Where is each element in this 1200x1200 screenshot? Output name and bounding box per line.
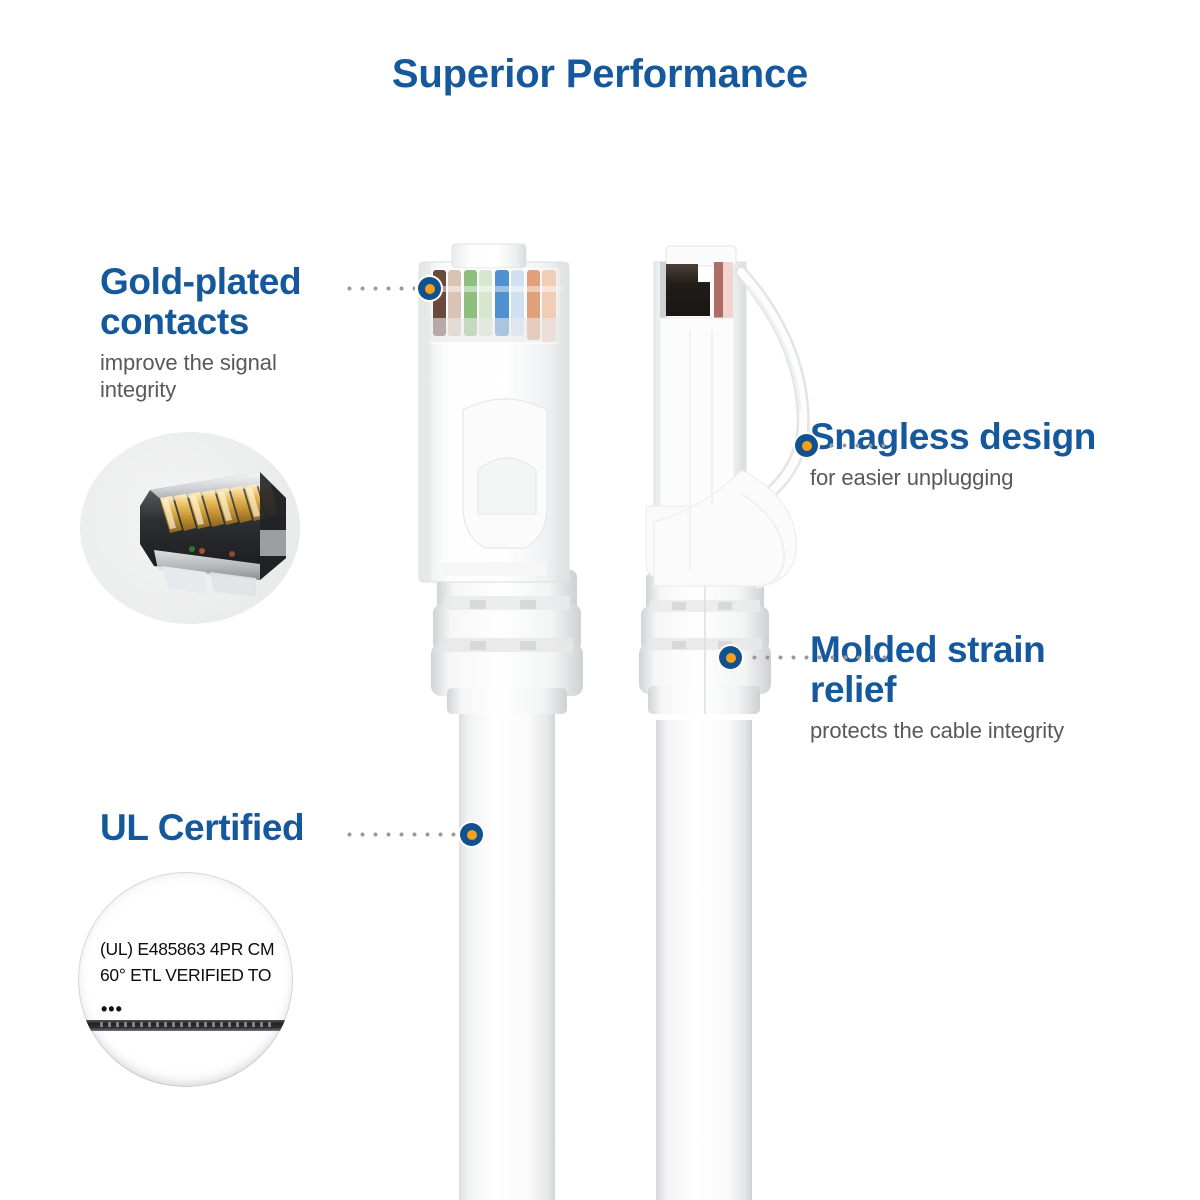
ul-label-ellipsis: ••• <box>101 999 123 1020</box>
rj45-gold-contacts-illustration <box>110 454 300 604</box>
molded-strain-relief-left <box>431 570 583 714</box>
callout-subtext-gold: improve the signal integrity <box>100 349 350 404</box>
marker-dot-ul-certified[interactable] <box>460 823 483 846</box>
ul-label-print-stripe <box>84 1020 287 1031</box>
callout-gold-plated-contacts: Gold-plated contacts improve the signal … <box>100 262 350 404</box>
connector-side-view <box>639 246 803 1200</box>
page-title: Superior Performance <box>0 52 1200 97</box>
marker-dot-molded-strain-relief[interactable] <box>719 646 742 669</box>
ul-label-line-1: (UL) E485863 4PR CM <box>100 938 278 961</box>
marker-dot-snagless-design[interactable] <box>795 434 818 457</box>
callout-subtext-molded: protects the cable integrity <box>810 717 1140 745</box>
leader-line-gold <box>343 285 415 292</box>
callout-snagless-design: Snagless design for easier unplugging <box>810 417 1140 491</box>
leader-line-molded <box>735 654 893 661</box>
callout-ul-certified: UL Certified <box>100 808 400 848</box>
callout-molded-strain-relief: Molded strain relief protects the cable … <box>810 630 1140 744</box>
inset-gold-contacts-closeup <box>80 432 300 624</box>
callout-subtext-snagless: for easier unplugging <box>810 464 1140 492</box>
callout-heading-snagless: Snagless design <box>810 417 1140 457</box>
infographic-canvas: Superior Performance Gold-plated contact… <box>0 0 1200 1200</box>
ul-label-line-2: 60° ETL VERIFIED TO <box>100 964 278 987</box>
molded-strain-relief-right <box>639 572 771 714</box>
callout-heading-molded: Molded strain relief <box>810 630 1140 710</box>
inset-ul-label-closeup: (UL) E485863 4PR CM 60° ETL VERIFIED TO … <box>78 872 293 1087</box>
leader-line-snagless <box>812 442 890 449</box>
marker-dot-gold-plated-contacts[interactable] <box>418 277 441 300</box>
callout-heading-ul: UL Certified <box>100 808 400 848</box>
callout-heading-gold: Gold-plated contacts <box>100 262 350 342</box>
connector-front-view <box>419 244 583 1200</box>
leader-line-ul <box>343 831 468 838</box>
